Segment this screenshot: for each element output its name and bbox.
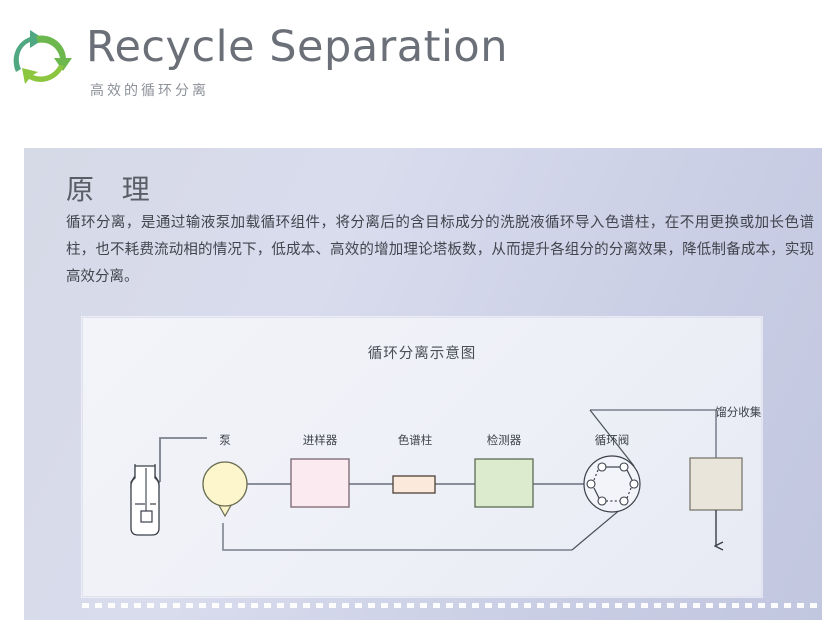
fraction-collector-component	[690, 458, 742, 546]
section-divider	[82, 603, 822, 608]
column-component	[393, 476, 435, 493]
brand-title: Recycle Separation	[86, 22, 508, 72]
recycle-valve-label: 循环阀	[595, 433, 630, 447]
injector-label: 进样器	[303, 433, 338, 447]
principle-description: 循环分离，是通过输液泵加载循环组件，将分离后的含目标成分的洗脱液循环导入色谱柱，…	[66, 210, 814, 291]
detector-label: 检测器	[487, 433, 522, 447]
injector-component	[291, 459, 349, 507]
page-header: Recycle Separation 高效的循环分离	[0, 0, 822, 132]
pump-label: 泵	[219, 434, 231, 447]
principle-panel: 原 理 循环分离，是通过输液泵加载循环组件，将分离后的含目标成分的洗脱液循环导入…	[24, 148, 822, 620]
brand-subtitle: 高效的循环分离	[90, 80, 209, 100]
pump-component	[203, 462, 247, 516]
fraction-collector-label: 馏分收集器	[715, 405, 761, 419]
diagram-panel: 循环分离示意图	[82, 317, 762, 597]
recycle-arrows-icon	[8, 28, 74, 90]
recycle-separation-flow-diagram: 泵 进样器 色谱柱 检测器	[83, 318, 761, 596]
column-label: 色谱柱	[398, 433, 433, 447]
page-title: 原 理	[66, 168, 160, 208]
recycle-valve-component	[584, 456, 640, 512]
solvent-bottle	[131, 464, 159, 535]
detector-component	[475, 459, 533, 507]
